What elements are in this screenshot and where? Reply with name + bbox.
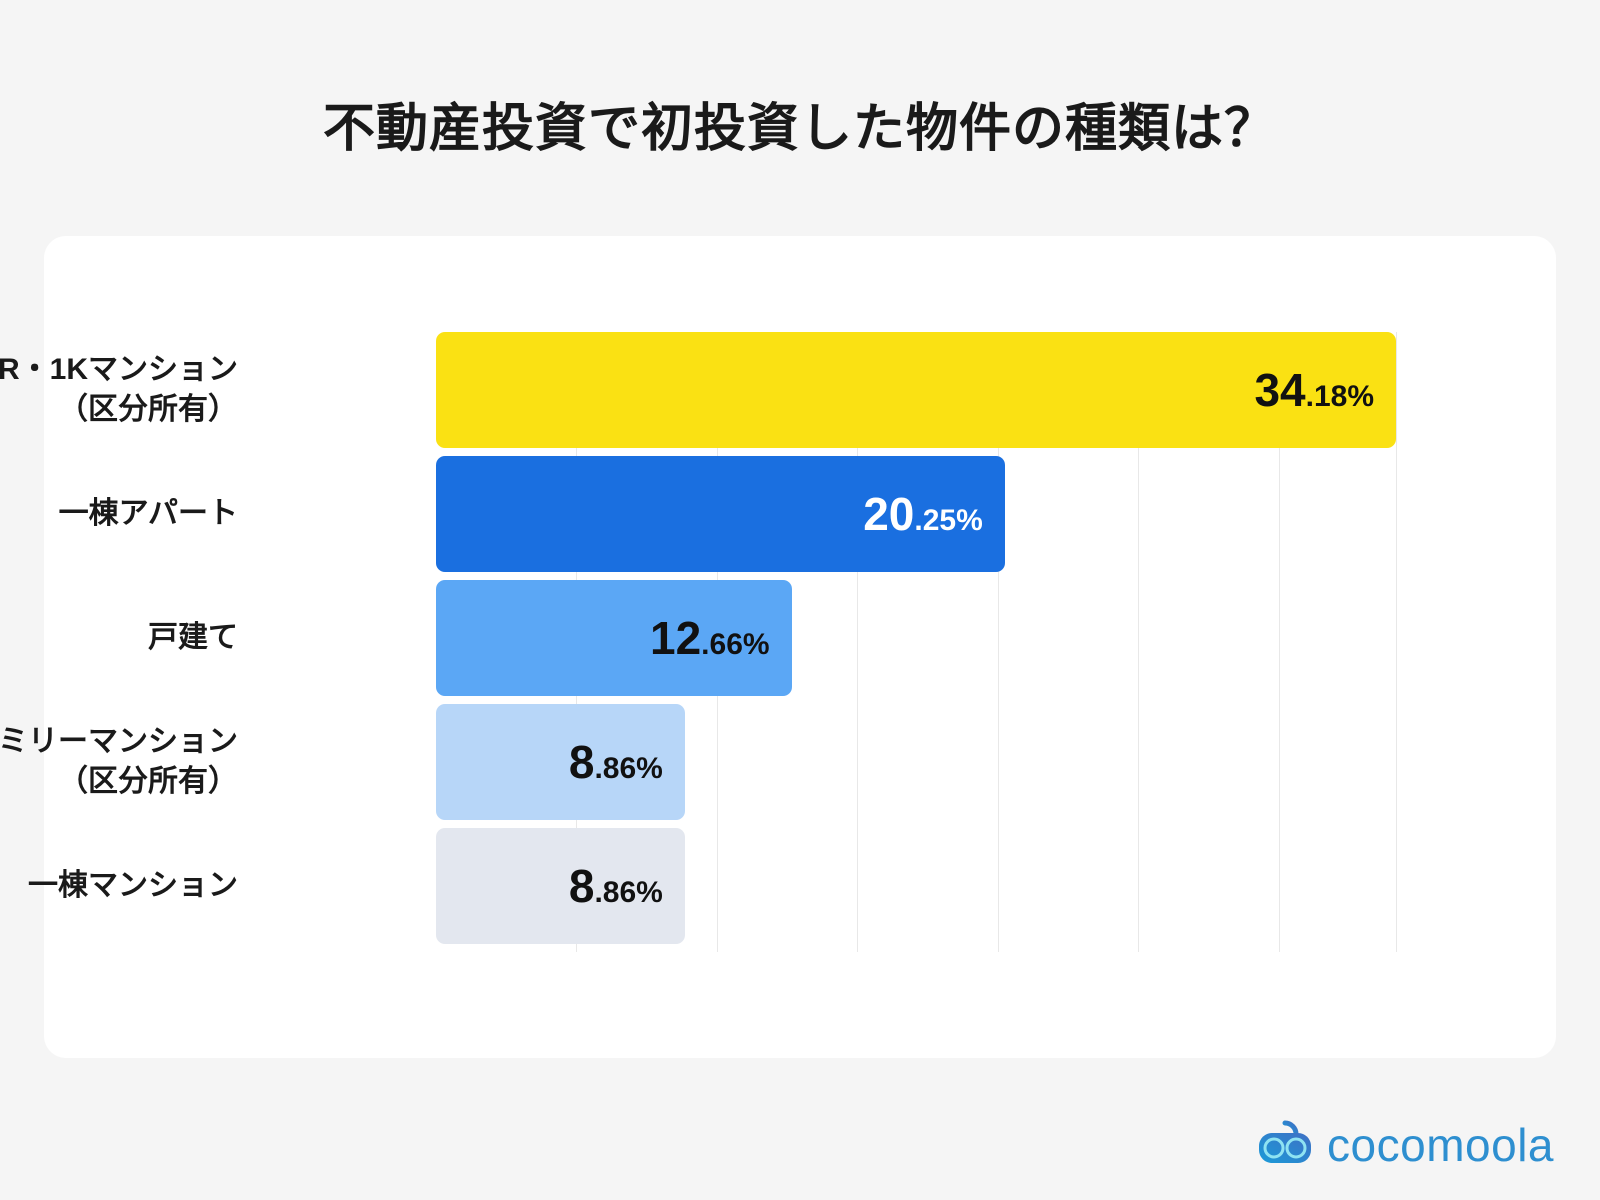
category-label-line2: （区分所有）: [58, 390, 238, 430]
cocomoola-robot-icon: [1257, 1119, 1313, 1170]
bar-value-label: 20.25%: [863, 491, 1005, 537]
bar-value-integer: 8: [569, 736, 595, 788]
category-label-line1: 1R・1Kマンション: [0, 350, 238, 390]
bar: 12.66%: [436, 580, 792, 696]
bar-row: 1R・1Kマンション（区分所有）34.18%: [436, 332, 1396, 448]
chart-card: 1R・1Kマンション（区分所有）34.18%一棟アパート20.25%戸建て12.…: [44, 236, 1556, 1058]
bar-value-decimal: .25%: [914, 504, 982, 537]
bar-value-label: 12.66%: [650, 615, 792, 661]
bar-value-integer: 20: [863, 488, 914, 540]
bar-value-decimal: .66%: [701, 628, 769, 661]
bar-value-integer: 12: [650, 612, 701, 664]
category-label-line1: 一棟マンション: [28, 866, 238, 906]
plot-area: 1R・1Kマンション（区分所有）34.18%一棟アパート20.25%戸建て12.…: [436, 332, 1396, 952]
bar-value-integer: 34: [1254, 364, 1305, 416]
bar-value-integer: 8: [569, 860, 595, 912]
bar-value-decimal: .18%: [1306, 380, 1374, 413]
bar-row: 一棟マンション8.86%: [436, 828, 1396, 944]
category-label: 戸建て: [0, 580, 238, 696]
bar-value-label: 8.86%: [569, 739, 685, 785]
category-label-line1: 一棟アパート: [59, 494, 238, 534]
category-label: ファミリーマンション（区分所有）: [0, 704, 238, 820]
bar-value-label: 34.18%: [1254, 367, 1396, 413]
bar-value-decimal: .86%: [594, 876, 662, 909]
page-title: 不動産投資で初投資した物件の種類は？: [0, 86, 1600, 161]
bar-row: ファミリーマンション（区分所有）8.86%: [436, 704, 1396, 820]
bar-row: 一棟アパート20.25%: [436, 456, 1396, 572]
category-label-line2: （区分所有）: [58, 762, 238, 802]
chart-page: 不動産投資で初投資した物件の種類は？ 1R・1Kマンション（区分所有）34.18…: [0, 0, 1600, 1200]
category-label-line1: ファミリーマンション: [0, 722, 238, 762]
bar: 8.86%: [436, 828, 685, 944]
brand-name: cocomoola: [1327, 1122, 1554, 1168]
bar: 20.25%: [436, 456, 1005, 572]
category-label: 一棟マンション: [0, 828, 238, 944]
bar: 34.18%: [436, 332, 1396, 448]
brand-logo: cocomoola: [1257, 1119, 1554, 1170]
bar-value-decimal: .86%: [594, 752, 662, 785]
bar-value-label: 8.86%: [569, 863, 685, 909]
category-label: 1R・1Kマンション（区分所有）: [0, 332, 238, 448]
bar: 8.86%: [436, 704, 685, 820]
bar-row: 戸建て12.66%: [436, 580, 1396, 696]
bar-rows: 1R・1Kマンション（区分所有）34.18%一棟アパート20.25%戸建て12.…: [436, 332, 1396, 952]
category-label-line1: 戸建て: [148, 618, 238, 658]
category-label: 一棟アパート: [0, 456, 238, 572]
gridline: [1396, 332, 1397, 952]
